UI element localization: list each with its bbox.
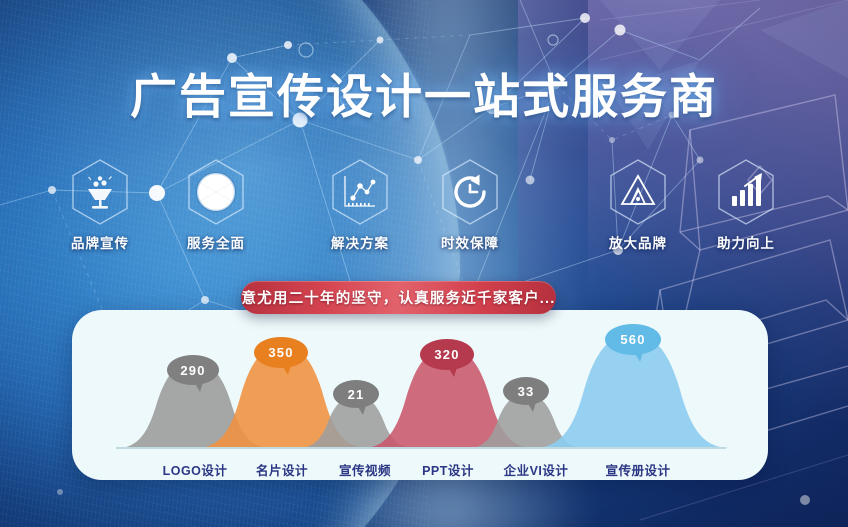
bubble-tail — [194, 382, 203, 392]
feature-item-solutions[interactable]: 解决方案 — [312, 158, 408, 252]
feature-row: 品牌宣传 服务全面 — [0, 158, 848, 250]
value-bubble-logo-design: 290 — [167, 355, 219, 385]
poster-stage: 广告宣传设计一站式服务商 — [0, 0, 848, 527]
value-label: 350 — [268, 345, 293, 360]
feature-item-timeliness[interactable]: 时效保障 — [422, 158, 518, 252]
value-bubble-ppt-design: 320 — [420, 339, 474, 370]
value-bubble-business-card-design: 350 — [254, 337, 308, 368]
value-label: 290 — [180, 363, 205, 378]
x-label-business-card: 名片设计 — [237, 460, 327, 479]
x-label-promo-video: 宣传视频 — [320, 460, 410, 479]
chart-x-labels: LOGO设计 名片设计 宣传视频 PPT设计 企业VI设计 宣传册设计 — [72, 460, 768, 480]
feature-item-boost-upward[interactable]: 助力向上 — [698, 158, 794, 252]
bubble-tail — [448, 367, 457, 377]
x-label-logo-design: LOGO设计 — [150, 460, 240, 479]
bubble-tail — [357, 405, 366, 415]
x-label-corporate-vi: 企业VI设计 — [484, 460, 588, 479]
feature-item-brand-promotion[interactable]: 品牌宣传 — [52, 158, 148, 252]
megaphone-broadcast-icon — [69, 158, 131, 226]
value-bubble-corporate-vi-design: 33 — [503, 377, 549, 405]
value-label: 560 — [620, 332, 645, 347]
feature-label: 品牌宣传 — [52, 232, 148, 252]
feature-label: 解决方案 — [312, 232, 408, 252]
bubble-tail — [527, 402, 536, 412]
feature-label: 放大品牌 — [590, 232, 686, 252]
value-label: 320 — [434, 347, 459, 362]
value-label: 33 — [518, 384, 535, 399]
value-label: 21 — [348, 387, 365, 402]
bar-chart-arrow-up-icon — [715, 158, 777, 226]
feature-label: 时效保障 — [422, 232, 518, 252]
bubble-tail — [634, 352, 643, 362]
feature-label: 助力向上 — [698, 232, 794, 252]
chart-card: 290 350 21 320 33 560 LOGO设计 名片设计 宣传视频 — [72, 310, 768, 480]
feature-item-full-service[interactable]: 服务全面 — [168, 158, 264, 252]
scatter-chart-icon — [329, 158, 391, 226]
tagline-banner: 意尤用二十年的坚守，认真服务近千家客户... — [241, 281, 556, 314]
clock-history-icon — [439, 158, 501, 226]
value-bubble-promo-video: 21 — [333, 380, 379, 408]
x-label-brochure: 宣传册设计 — [584, 460, 692, 479]
camera-aperture-icon — [185, 158, 247, 226]
tagline-text: 意尤用二十年的坚守，认真服务近千家客户... — [242, 287, 556, 308]
feature-label: 服务全面 — [168, 232, 264, 252]
triangle-amplify-icon — [607, 158, 669, 226]
chart-baseline — [116, 447, 726, 449]
feature-item-amplify-brand[interactable]: 放大品牌 — [590, 158, 686, 252]
page-title: 广告宣传设计一站式服务商 — [0, 58, 848, 127]
value-bubble-brochure-design: 560 — [605, 324, 661, 355]
bubble-tail — [282, 365, 291, 375]
x-label-ppt-design: PPT设计 — [403, 460, 493, 479]
